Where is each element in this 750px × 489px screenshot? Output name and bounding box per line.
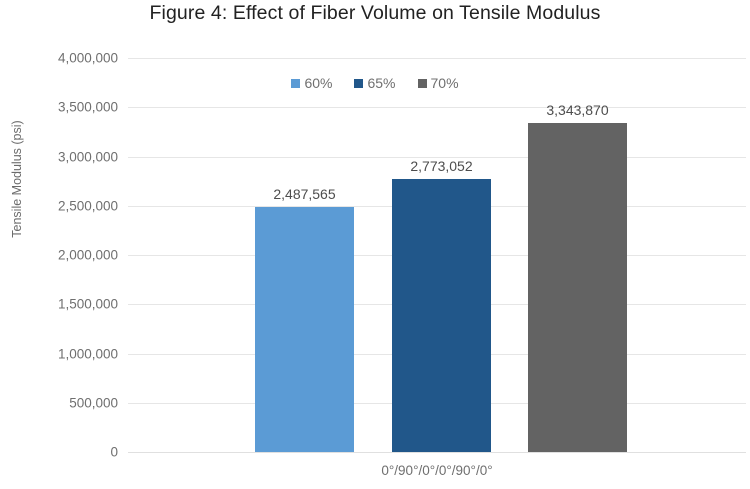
y-axis-tick-label: 0 <box>6 445 118 460</box>
bar-70pct[interactable]: 3,343,870 <box>528 123 627 452</box>
x-axis-category-label: 0°/90°/0°/0°/90°/0° <box>128 463 746 478</box>
bar-value-label: 2,487,565 <box>273 186 335 202</box>
gridline <box>128 58 746 59</box>
y-axis-tick-label: 3,000,000 <box>6 149 118 164</box>
chart-container: Figure 4: Effect of Fiber Volume on Tens… <box>0 0 750 489</box>
gridline <box>128 107 746 108</box>
y-axis-tick-label: 1,000,000 <box>6 346 118 361</box>
bar-rect <box>528 123 627 452</box>
bar-rect <box>392 179 491 452</box>
bar-value-label: 3,343,870 <box>546 102 608 118</box>
bar-60pct[interactable]: 2,487,565 <box>255 207 354 452</box>
plot-area: 2,487,5652,773,0523,343,870 <box>128 58 746 452</box>
y-axis-tick-label: 3,500,000 <box>6 100 118 115</box>
y-axis-tick-label: 4,000,000 <box>6 51 118 66</box>
bar-value-label: 2,773,052 <box>410 158 472 174</box>
y-axis-tick-label: 2,000,000 <box>6 248 118 263</box>
bar-65pct[interactable]: 2,773,052 <box>392 179 491 452</box>
y-axis-tick-label: 500,000 <box>6 395 118 410</box>
y-axis-tick-label: 2,500,000 <box>6 198 118 213</box>
gridline <box>128 452 746 453</box>
chart-title: Figure 4: Effect of Fiber Volume on Tens… <box>0 2 750 25</box>
bar-rect <box>255 207 354 452</box>
y-axis-tick-label: 1,500,000 <box>6 297 118 312</box>
